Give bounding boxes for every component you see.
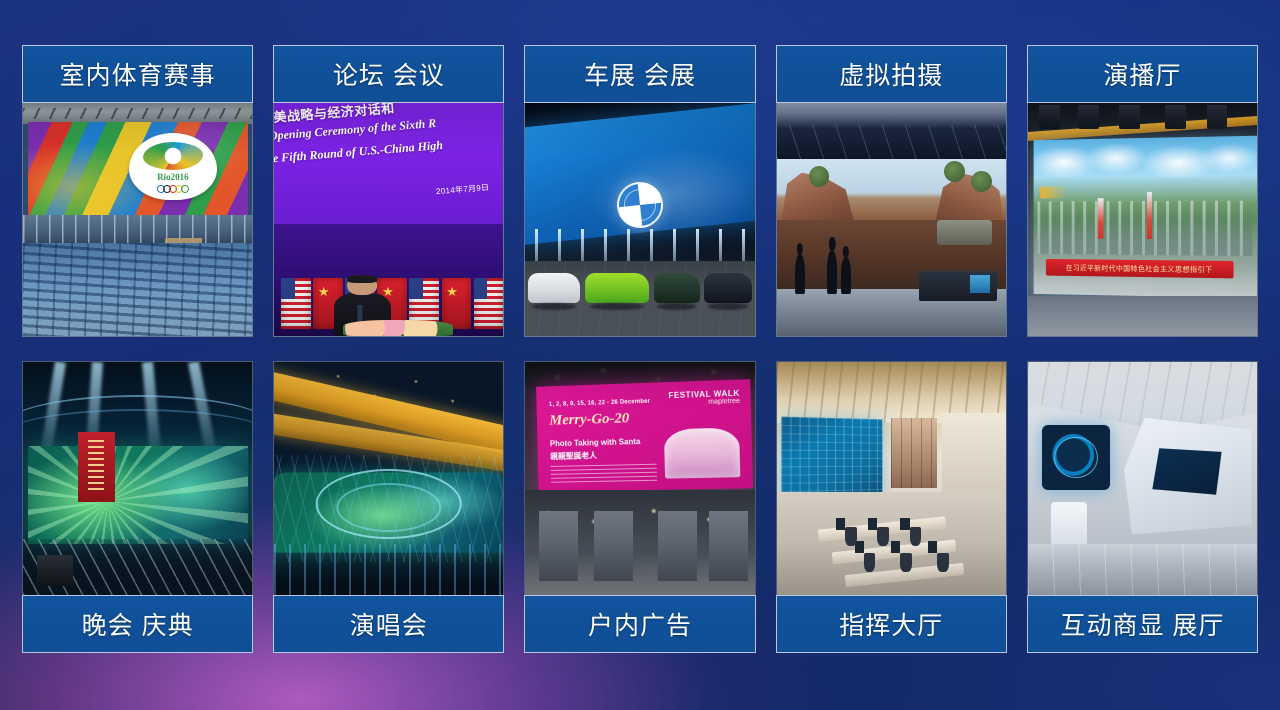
card-image-indoor-sports[interactable]: Rio2016 (22, 103, 253, 337)
card-caption-auto-show: 车展 会展 (524, 45, 755, 103)
mall-storefront (658, 511, 697, 581)
card-image-command-center[interactable] (776, 361, 1007, 595)
desk-monitor (891, 541, 900, 553)
mall-storefront (709, 511, 748, 581)
rio-logo-figures (143, 142, 203, 170)
screen-sky (1034, 142, 1258, 180)
scenario-card-forum-conference[interactable]: 论坛 会议 中美战略与经济对话和 nt Opening Ceremony of … (273, 45, 504, 337)
office-chair (877, 527, 888, 546)
studio-ceiling (777, 103, 1006, 159)
video-wall (781, 416, 882, 498)
office-chair (864, 553, 875, 572)
podium-flowers (343, 320, 453, 336)
showroom-ceiling (1028, 362, 1257, 432)
ad-title-text: Merry-Go-20 (549, 410, 629, 429)
broadcast-studio-photo: 在习近平新时代中国特色社会主义思想指引下 (1028, 103, 1257, 336)
mall-storefront (539, 511, 578, 581)
gala-photo (23, 362, 252, 595)
showroom-display-panel (1124, 418, 1252, 535)
scenario-card-auto-show[interactable]: 车展 会展 (524, 45, 755, 337)
stadium-truss (23, 108, 252, 120)
scenario-row-bottom: 晚会 庆典 演唱会 (22, 361, 1258, 653)
stadium-led-screen: Rio2016 (28, 122, 248, 215)
rio-logo-egg: Rio2016 (129, 133, 217, 200)
ad-carousel-illustration (664, 428, 740, 480)
screen-banner: 在习近平新时代中国特色社会主义思想指引下 (1046, 259, 1233, 279)
studio-lamp-icon (1119, 105, 1140, 128)
desk-monitor (868, 518, 877, 530)
scenario-card-broadcast-studio[interactable]: 演播厅 (1027, 45, 1258, 337)
studio-led-screen: 在习近平新时代中国特色社会主义思想指引下 (1034, 136, 1258, 299)
scenario-row-top: 室内体育赛事 Rio2016 (22, 45, 1258, 337)
concert-photo (274, 362, 503, 595)
office-chair (845, 527, 856, 546)
studio-lamp-icon (1039, 105, 1060, 128)
studio-floor (1028, 296, 1257, 336)
smoke-stack (1098, 198, 1103, 239)
showroom-photo (1028, 362, 1257, 595)
scenario-card-virtual-production[interactable]: 虚拟拍摄 (776, 45, 1007, 337)
virtual-tree (809, 166, 830, 187)
card-image-gala-celebration[interactable] (22, 361, 253, 595)
desk-monitor (900, 518, 909, 530)
office-chair (937, 553, 948, 572)
card-caption-broadcast-studio: 演播厅 (1027, 45, 1258, 103)
us-flag-icon (281, 278, 311, 329)
scenario-card-indoor-advertising[interactable]: 1, 2, 8, 9, 15, 16, 22 - 26 December Mer… (524, 361, 755, 653)
auto-show-photo (525, 103, 754, 336)
rio-logo-text: Rio2016 (129, 172, 217, 182)
car-dark-1 (654, 273, 700, 303)
scenario-card-gala-celebration[interactable]: 晚会 庆典 (22, 361, 253, 653)
smoke-stack (1147, 192, 1153, 240)
scenario-card-indoor-sports[interactable]: 室内体育赛事 Rio2016 (22, 45, 253, 337)
screen-banner-text: 在习近平新时代中国特色社会主义思想指引下 (1066, 263, 1213, 275)
scenario-card-concert[interactable]: 演唱会 (273, 361, 504, 653)
olympic-rings-icon (157, 185, 189, 193)
stadium-seats (23, 243, 252, 336)
card-caption-command-center: 指挥大厅 (776, 595, 1007, 653)
office-chair (900, 553, 911, 572)
cn-flag-icon (442, 278, 472, 329)
card-image-indoor-advertising[interactable]: 1, 2, 8, 9, 15, 16, 22 - 26 December Mer… (524, 361, 755, 595)
ad-dates-text: 1, 2, 8, 9, 15, 16, 22 - 26 December (548, 399, 649, 408)
command-center-photo (777, 362, 1006, 595)
channel-logo-icon (1040, 186, 1079, 199)
mall-storefront (594, 511, 633, 581)
desk-monitor (836, 518, 845, 530)
virtual-production-photo (777, 103, 1006, 336)
studio-lamp-icon (1165, 105, 1186, 128)
forum-backdrop-screen: 中美战略与经济对话和 nt Opening Ceremony of the Si… (274, 103, 503, 226)
photo-panel (891, 418, 937, 488)
scenario-grid: 室内体育赛事 Rio2016 (0, 0, 1280, 710)
stage-banner (78, 432, 115, 502)
card-caption-gala-celebration: 晚会 庆典 (22, 595, 253, 653)
card-caption-interactive-showroom: 互动商显 展厅 (1027, 595, 1258, 653)
card-caption-virtual-production: 虚拟拍摄 (776, 45, 1007, 103)
card-caption-indoor-sports: 室内体育赛事 (22, 45, 253, 103)
forum-screen-date: 2014年7月9日 (436, 182, 490, 197)
card-caption-concert: 演唱会 (273, 595, 504, 653)
crew-figure (795, 254, 805, 294)
showroom-floor (1028, 544, 1257, 595)
forum-photo: 中美战略与经济对话和 nt Opening Ceremony of the Si… (274, 103, 503, 336)
ad-subtitle-cn-text: 親親聖誕老人 (550, 451, 597, 463)
card-image-concert[interactable] (273, 361, 504, 595)
virtual-tree (944, 161, 965, 182)
card-image-auto-show[interactable] (524, 103, 755, 337)
car-dark-2 (704, 273, 752, 303)
crew-figure (841, 257, 851, 294)
card-caption-indoor-advertising: 户内广告 (524, 595, 755, 653)
stadium-railing (23, 215, 252, 243)
studio-lamp-icon (1207, 105, 1228, 128)
card-caption-forum-conference: 论坛 会议 (273, 45, 504, 103)
virtual-tree (971, 171, 992, 192)
car-green (585, 273, 649, 303)
broadcast-camera (37, 555, 74, 585)
forum-stage (274, 224, 503, 336)
card-image-broadcast-studio[interactable]: 在习近平新时代中国特色社会主义思想指引下 (1027, 103, 1258, 337)
screen-industrial-plant (1038, 201, 1253, 256)
stadium-photo: Rio2016 (23, 103, 252, 336)
car-white (528, 273, 581, 303)
camera-gear (919, 271, 997, 301)
card-image-forum-conference[interactable]: 中美战略与经济对话和 nt Opening Ceremony of the Si… (273, 103, 504, 337)
ad-brand-block: FESTIVAL WALK mapletree (668, 388, 740, 407)
speaker-head (348, 275, 378, 295)
studio-lamp-icon (1078, 105, 1099, 128)
gala-led-screen (28, 446, 248, 544)
forum-screen-line-3: the Fifth Round of U.S.-China High (274, 138, 443, 167)
ad-brand-sub: mapletree (668, 397, 740, 406)
screen-swirl-graphic (28, 446, 248, 544)
scenario-card-interactive-showroom[interactable]: 互动商显 展厅 (1027, 361, 1258, 653)
desk-monitor (928, 541, 937, 553)
scenario-card-command-center[interactable]: 指挥大厅 (776, 361, 1007, 653)
advertising-led-board: 1, 2, 8, 9, 15, 16, 22 - 26 December Mer… (536, 379, 753, 492)
crew-figure (827, 250, 837, 294)
ad-subtitle-text: Photo Taking with Santa (549, 437, 640, 448)
audience-lights (274, 544, 503, 595)
card-image-interactive-showroom[interactable] (1027, 361, 1258, 595)
us-flag-icon (474, 278, 504, 329)
card-image-virtual-production[interactable] (776, 103, 1007, 337)
interactive-display-unit (1042, 425, 1111, 490)
virtual-truck (937, 220, 992, 246)
ad-fine-print (550, 464, 656, 483)
stage-ring (336, 483, 441, 532)
advertising-photo: 1, 2, 8, 9, 15, 16, 22 - 26 December Mer… (525, 362, 754, 595)
office-chair (910, 527, 921, 546)
